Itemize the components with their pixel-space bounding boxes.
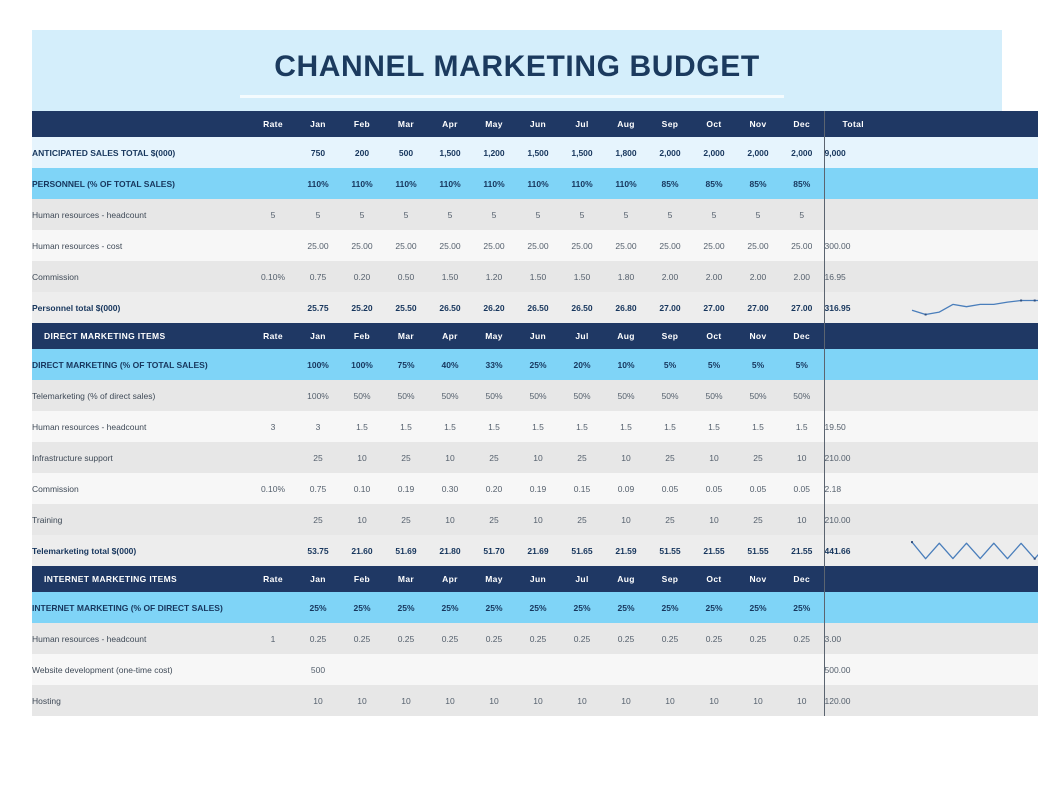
row-rate — [250, 685, 296, 716]
cell-dec: 10 — [780, 685, 824, 716]
column-header-may: May — [472, 111, 516, 137]
cell-jan: 750 — [296, 137, 340, 168]
cell-aug: 10% — [604, 349, 648, 380]
column-header-oct: Oct — [692, 111, 736, 137]
cell-jun: 1.5 — [516, 411, 560, 442]
cell-jun: 110% — [516, 168, 560, 199]
table-row: Human resources - cost25.0025.0025.0025.… — [32, 230, 1038, 261]
column-header-jun: Jun — [516, 111, 560, 137]
row-label: Telemarketing (% of direct sales) — [32, 380, 250, 411]
cell-jun: 10 — [516, 685, 560, 716]
cell-aug — [604, 654, 648, 685]
row-total — [824, 380, 882, 411]
cell-mar: 25 — [384, 504, 428, 535]
cell-dec: 10 — [780, 442, 824, 473]
cell-apr: 10 — [428, 504, 472, 535]
row-label: Human resources - headcount — [32, 623, 250, 654]
cell-feb: 25% — [340, 592, 384, 623]
cell-nov: 50% — [736, 380, 780, 411]
cell-may: 26.20 — [472, 292, 516, 323]
cell-jul: 10 — [560, 685, 604, 716]
cell-mar — [384, 654, 428, 685]
budget-table-body: RateJanFebMarAprMayJunJulAugSepOctNovDec… — [32, 111, 1038, 716]
column-header-rate: Rate — [250, 323, 296, 349]
column-header-mar: Mar — [384, 566, 428, 592]
table-row: Human resources - headcount331.51.51.51.… — [32, 411, 1038, 442]
cell-nov: 2.00 — [736, 261, 780, 292]
sparkline-cell — [882, 137, 1038, 168]
column-header-dec: Dec — [780, 323, 824, 349]
row-total — [824, 349, 882, 380]
column-header-jan: Jan — [296, 323, 340, 349]
cell-may — [472, 654, 516, 685]
cell-feb: 25.20 — [340, 292, 384, 323]
cell-mar: 0.19 — [384, 473, 428, 504]
cell-apr: 25% — [428, 592, 472, 623]
cell-jun: 21.69 — [516, 535, 560, 566]
column-header-may: May — [472, 566, 516, 592]
column-header-aug: Aug — [604, 111, 648, 137]
table-row: Website development (one-time cost)50050… — [32, 654, 1038, 685]
row-total — [824, 592, 882, 623]
cell-jan: 25.00 — [296, 230, 340, 261]
cell-nov: 10 — [736, 685, 780, 716]
column-header-feb: Feb — [340, 323, 384, 349]
cell-may: 25% — [472, 592, 516, 623]
row-label: Infrastructure support — [32, 442, 250, 473]
column-header-rate: Rate — [250, 566, 296, 592]
cell-may: 110% — [472, 168, 516, 199]
column-header-jul: Jul — [560, 323, 604, 349]
cell-dec: 2,000 — [780, 137, 824, 168]
cell-mar: 10 — [384, 685, 428, 716]
cell-jan: 100% — [296, 380, 340, 411]
spreadsheet-page: CHANNEL MARKETING BUDGET RateJanFebMarAp… — [32, 30, 1002, 770]
row-total: 19.50 — [824, 411, 882, 442]
row-rate — [250, 592, 296, 623]
cell-dec: 50% — [780, 380, 824, 411]
cell-sep: 51.55 — [648, 535, 692, 566]
cell-jan: 3 — [296, 411, 340, 442]
cell-dec: 21.55 — [780, 535, 824, 566]
column-header-jun: Jun — [516, 323, 560, 349]
cell-oct: 10 — [692, 504, 736, 535]
cell-jul: 20% — [560, 349, 604, 380]
cell-mar: 5 — [384, 199, 428, 230]
row-rate: 0.10% — [250, 261, 296, 292]
cell-apr: 21.80 — [428, 535, 472, 566]
sparkline-cell — [882, 592, 1038, 623]
cell-aug: 1.5 — [604, 411, 648, 442]
row-label: Human resources - headcount — [32, 199, 250, 230]
page-bottom-cutoff — [32, 770, 1002, 800]
cell-sep: 85% — [648, 168, 692, 199]
cell-feb: 200 — [340, 137, 384, 168]
row-rate — [250, 442, 296, 473]
cell-feb: 10 — [340, 442, 384, 473]
row-total — [824, 168, 882, 199]
column-header-total: Total — [824, 111, 882, 137]
cell-jan: 10 — [296, 685, 340, 716]
cell-feb: 0.25 — [340, 623, 384, 654]
cell-nov: 5 — [736, 199, 780, 230]
cell-aug: 25.00 — [604, 230, 648, 261]
cell-oct — [692, 654, 736, 685]
title-banner: CHANNEL MARKETING BUDGET — [32, 30, 1002, 111]
sparkline-cell — [882, 168, 1038, 199]
cell-mar: 25 — [384, 442, 428, 473]
sparkline-cell — [882, 473, 1038, 504]
column-header-sep: Sep — [648, 566, 692, 592]
row-rate — [250, 230, 296, 261]
sparkline-cell — [882, 380, 1038, 411]
cell-apr: 0.25 — [428, 623, 472, 654]
cell-apr: 1.5 — [428, 411, 472, 442]
column-header-sep: Sep — [648, 323, 692, 349]
cell-sep: 2,000 — [648, 137, 692, 168]
cell-oct: 5 — [692, 199, 736, 230]
cell-jul: 1,500 — [560, 137, 604, 168]
cell-jul: 0.25 — [560, 623, 604, 654]
column-header-aug: Aug — [604, 566, 648, 592]
section-percent-row: DIRECT MARKETING (% OF TOTAL SALES)100%1… — [32, 349, 1038, 380]
cell-jul: 25 — [560, 442, 604, 473]
cell-jul: 1.5 — [560, 411, 604, 442]
row-total: 120.00 — [824, 685, 882, 716]
cell-may: 25 — [472, 442, 516, 473]
sparkline-header-cell — [882, 566, 1038, 592]
sparkline-header-cell — [882, 111, 1038, 137]
column-header-feb: Feb — [340, 111, 384, 137]
cell-oct: 27.00 — [692, 292, 736, 323]
column-header-dec: Dec — [780, 111, 824, 137]
table-row: Training251025102510251025102510210.00 — [32, 504, 1038, 535]
row-label: Training — [32, 504, 250, 535]
cell-oct: 1.5 — [692, 411, 736, 442]
cell-apr: 40% — [428, 349, 472, 380]
row-label: INTERNET MARKETING (% OF DIRECT SALES) — [32, 592, 250, 623]
row-total: 316.95 — [824, 292, 882, 323]
cell-oct: 25.00 — [692, 230, 736, 261]
cell-mar: 110% — [384, 168, 428, 199]
table-row: Infrastructure support251025102510251025… — [32, 442, 1038, 473]
section-header-row: RateJanFebMarAprMayJunJulAugSepOctNovDec… — [32, 111, 1038, 137]
cell-jan: 100% — [296, 349, 340, 380]
row-total: 441.66 — [824, 535, 882, 566]
section-header-label: DIRECT MARKETING ITEMS — [32, 323, 250, 349]
cell-sep: 0.05 — [648, 473, 692, 504]
column-header-mar: Mar — [384, 323, 428, 349]
cell-aug: 1.80 — [604, 261, 648, 292]
cell-aug: 10 — [604, 504, 648, 535]
cell-apr: 50% — [428, 380, 472, 411]
cell-sep: 2.00 — [648, 261, 692, 292]
cell-sep: 25 — [648, 504, 692, 535]
cell-aug: 5 — [604, 199, 648, 230]
section-total-row: Telemarketing total $(000)53.7521.6051.6… — [32, 535, 1038, 566]
cell-jun: 25.00 — [516, 230, 560, 261]
cell-jun: 5 — [516, 199, 560, 230]
column-header-jun: Jun — [516, 566, 560, 592]
cell-dec — [780, 654, 824, 685]
cell-feb: 100% — [340, 349, 384, 380]
cell-sep: 50% — [648, 380, 692, 411]
row-total: 210.00 — [824, 442, 882, 473]
cell-may: 0.20 — [472, 473, 516, 504]
cell-may: 10 — [472, 685, 516, 716]
cell-may: 33% — [472, 349, 516, 380]
sparkline-cell — [882, 230, 1038, 261]
cell-dec: 2.00 — [780, 261, 824, 292]
cell-may: 25 — [472, 504, 516, 535]
cell-feb: 110% — [340, 168, 384, 199]
cell-apr: 110% — [428, 168, 472, 199]
cell-feb: 1.5 — [340, 411, 384, 442]
row-rate — [250, 137, 296, 168]
cell-jul: 25% — [560, 592, 604, 623]
cell-mar: 25.00 — [384, 230, 428, 261]
cell-jun: 0.19 — [516, 473, 560, 504]
section-header-row: INTERNET MARKETING ITEMSRateJanFebMarApr… — [32, 566, 1038, 592]
column-header-jul: Jul — [560, 566, 604, 592]
cell-nov: 2,000 — [736, 137, 780, 168]
cell-oct: 0.05 — [692, 473, 736, 504]
cell-apr: 10 — [428, 685, 472, 716]
row-rate — [250, 168, 296, 199]
cell-oct: 5% — [692, 349, 736, 380]
cell-mar: 500 — [384, 137, 428, 168]
cell-oct: 85% — [692, 168, 736, 199]
table-row: Telemarketing (% of direct sales)100%50%… — [32, 380, 1038, 411]
cell-mar: 0.50 — [384, 261, 428, 292]
cell-nov: 0.05 — [736, 473, 780, 504]
cell-sep: 25% — [648, 592, 692, 623]
sparkline-telemarketing — [882, 535, 1038, 566]
column-header-oct: Oct — [692, 323, 736, 349]
column-header-jul: Jul — [560, 111, 604, 137]
cell-dec: 0.25 — [780, 623, 824, 654]
cell-aug: 25% — [604, 592, 648, 623]
cell-nov: 25.00 — [736, 230, 780, 261]
cell-jun: 1.50 — [516, 261, 560, 292]
sparkline-cell — [882, 504, 1038, 535]
column-header-apr: Apr — [428, 323, 472, 349]
cell-nov: 25 — [736, 442, 780, 473]
row-label: Human resources - cost — [32, 230, 250, 261]
column-header-total — [824, 323, 882, 349]
cell-aug: 0.09 — [604, 473, 648, 504]
cell-oct: 10 — [692, 685, 736, 716]
cell-jun: 10 — [516, 504, 560, 535]
row-label: DIRECT MARKETING (% OF TOTAL SALES) — [32, 349, 250, 380]
budget-table: RateJanFebMarAprMayJunJulAugSepOctNovDec… — [32, 111, 1038, 716]
cell-nov: 51.55 — [736, 535, 780, 566]
cell-mar: 50% — [384, 380, 428, 411]
cell-oct: 50% — [692, 380, 736, 411]
row-label: Human resources - headcount — [32, 411, 250, 442]
sparkline-cell — [882, 199, 1038, 230]
cell-mar: 25.50 — [384, 292, 428, 323]
column-header-nov: Nov — [736, 111, 780, 137]
row-total — [824, 199, 882, 230]
cell-aug: 110% — [604, 168, 648, 199]
row-rate: 5 — [250, 199, 296, 230]
row-rate — [250, 654, 296, 685]
cell-aug: 10 — [604, 442, 648, 473]
cell-may: 1.20 — [472, 261, 516, 292]
cell-dec: 25.00 — [780, 230, 824, 261]
row-total: 210.00 — [824, 504, 882, 535]
cell-jan: 53.75 — [296, 535, 340, 566]
section-header-row: DIRECT MARKETING ITEMSRateJanFebMarAprMa… — [32, 323, 1038, 349]
cell-nov: 0.25 — [736, 623, 780, 654]
cell-mar: 51.69 — [384, 535, 428, 566]
cell-feb — [340, 654, 384, 685]
cell-nov: 25 — [736, 504, 780, 535]
row-total: 3.00 — [824, 623, 882, 654]
cell-oct: 2,000 — [692, 137, 736, 168]
cell-oct: 10 — [692, 442, 736, 473]
row-rate — [250, 292, 296, 323]
cell-jun — [516, 654, 560, 685]
row-label: Personnel total $(000) — [32, 292, 250, 323]
column-header-apr: Apr — [428, 566, 472, 592]
table-row: Human resources - headcount10.250.250.25… — [32, 623, 1038, 654]
cell-jul: 51.65 — [560, 535, 604, 566]
column-header-sep: Sep — [648, 111, 692, 137]
cell-jan: 500 — [296, 654, 340, 685]
cell-mar: 25% — [384, 592, 428, 623]
cell-jun: 1,500 — [516, 137, 560, 168]
row-rate: 3 — [250, 411, 296, 442]
sparkline-cell — [882, 411, 1038, 442]
cell-jan: 0.75 — [296, 261, 340, 292]
cell-jan: 25% — [296, 592, 340, 623]
cell-may: 25.00 — [472, 230, 516, 261]
row-rate — [250, 349, 296, 380]
cell-may: 5 — [472, 199, 516, 230]
cell-jan: 25 — [296, 442, 340, 473]
column-header-apr: Apr — [428, 111, 472, 137]
row-label: ANTICIPATED SALES TOTAL $(000) — [32, 137, 250, 168]
table-row: Commission0.10%0.750.200.501.501.201.501… — [32, 261, 1038, 292]
cell-feb: 5 — [340, 199, 384, 230]
cell-apr: 1.50 — [428, 261, 472, 292]
row-label: Website development (one-time cost) — [32, 654, 250, 685]
cell-dec: 85% — [780, 168, 824, 199]
cell-sep: 5% — [648, 349, 692, 380]
anticipated-sales-row: ANTICIPATED SALES TOTAL $(000)7502005001… — [32, 137, 1038, 168]
cell-jun: 26.50 — [516, 292, 560, 323]
cell-sep: 10 — [648, 685, 692, 716]
row-rate — [250, 380, 296, 411]
cell-jun: 25% — [516, 592, 560, 623]
cell-may: 51.70 — [472, 535, 516, 566]
cell-jun: 50% — [516, 380, 560, 411]
cell-jul: 26.50 — [560, 292, 604, 323]
cell-oct: 21.55 — [692, 535, 736, 566]
cell-nov — [736, 654, 780, 685]
column-header-nov: Nov — [736, 566, 780, 592]
table-row: Human resources - headcount5555555555555 — [32, 199, 1038, 230]
cell-jul: 0.15 — [560, 473, 604, 504]
cell-jul: 50% — [560, 380, 604, 411]
column-header-dec: Dec — [780, 566, 824, 592]
row-rate: 0.10% — [250, 473, 296, 504]
section-percent-row: INTERNET MARKETING (% OF DIRECT SALES)25… — [32, 592, 1038, 623]
cell-mar: 75% — [384, 349, 428, 380]
cell-aug: 26.80 — [604, 292, 648, 323]
cell-jul: 25 — [560, 504, 604, 535]
row-label: Commission — [32, 473, 250, 504]
cell-dec: 5% — [780, 349, 824, 380]
cell-apr — [428, 654, 472, 685]
cell-dec: 0.05 — [780, 473, 824, 504]
cell-nov: 1.5 — [736, 411, 780, 442]
cell-jul: 25.00 — [560, 230, 604, 261]
row-total: 500.00 — [824, 654, 882, 685]
section-percent-row: PERSONNEL (% OF TOTAL SALES)110%110%110%… — [32, 168, 1038, 199]
cell-jul: 5 — [560, 199, 604, 230]
cell-apr: 5 — [428, 199, 472, 230]
row-rate — [250, 504, 296, 535]
cell-nov: 5% — [736, 349, 780, 380]
column-header-total — [824, 566, 882, 592]
cell-aug: 10 — [604, 685, 648, 716]
row-total: 300.00 — [824, 230, 882, 261]
table-row: Commission0.10%0.750.100.190.300.200.190… — [32, 473, 1038, 504]
cell-oct: 0.25 — [692, 623, 736, 654]
column-header-nov: Nov — [736, 323, 780, 349]
sparkline-cell — [882, 654, 1038, 685]
row-rate: 1 — [250, 623, 296, 654]
column-header-mar: Mar — [384, 111, 428, 137]
cell-may: 0.25 — [472, 623, 516, 654]
section-header-label — [32, 111, 250, 137]
cell-dec: 25% — [780, 592, 824, 623]
row-label: Hosting — [32, 685, 250, 716]
cell-feb: 50% — [340, 380, 384, 411]
cell-sep: 5 — [648, 199, 692, 230]
sparkline-cell — [882, 261, 1038, 292]
sparkline-header-cell — [882, 323, 1038, 349]
cell-dec: 10 — [780, 504, 824, 535]
sparkline-personnel — [882, 292, 1038, 323]
cell-jun: 25% — [516, 349, 560, 380]
cell-jul — [560, 654, 604, 685]
cell-jul: 1.50 — [560, 261, 604, 292]
sparkline-cell — [882, 442, 1038, 473]
column-header-jan: Jan — [296, 566, 340, 592]
cell-may: 1.5 — [472, 411, 516, 442]
cell-feb: 25.00 — [340, 230, 384, 261]
cell-nov: 27.00 — [736, 292, 780, 323]
section-header-label: INTERNET MARKETING ITEMS — [32, 566, 250, 592]
cell-apr: 10 — [428, 442, 472, 473]
cell-aug: 0.25 — [604, 623, 648, 654]
cell-nov: 25% — [736, 592, 780, 623]
cell-apr: 1,500 — [428, 137, 472, 168]
cell-feb: 10 — [340, 685, 384, 716]
cell-feb: 0.10 — [340, 473, 384, 504]
cell-jan: 0.25 — [296, 623, 340, 654]
cell-dec: 27.00 — [780, 292, 824, 323]
cell-feb: 10 — [340, 504, 384, 535]
cell-feb: 21.60 — [340, 535, 384, 566]
row-rate — [250, 535, 296, 566]
cell-dec: 5 — [780, 199, 824, 230]
column-header-feb: Feb — [340, 566, 384, 592]
